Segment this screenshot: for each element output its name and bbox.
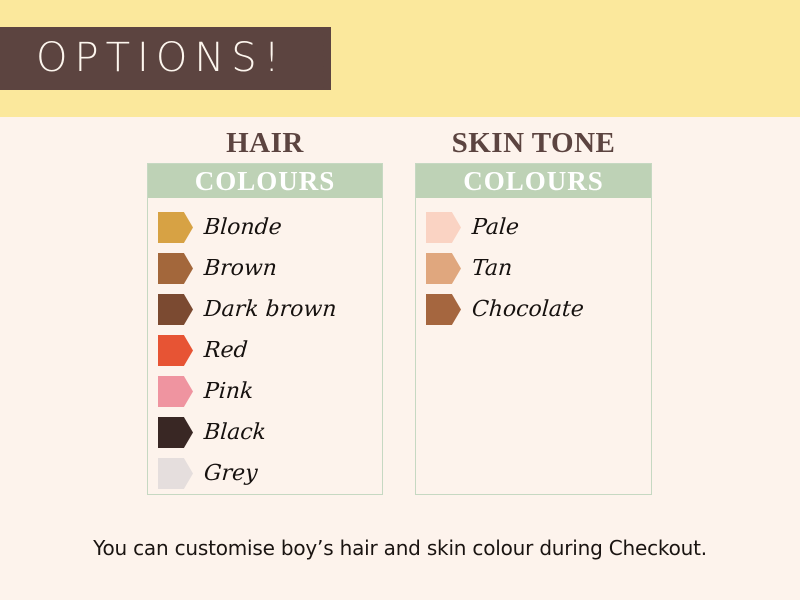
colour-swatch-icon bbox=[426, 253, 461, 284]
list-item[interactable]: Pink bbox=[148, 371, 382, 412]
list-item-label: Brown bbox=[203, 256, 278, 281]
ribbon-teeth-icon bbox=[307, 27, 331, 90]
list-item-label: Blonde bbox=[203, 215, 282, 240]
colour-swatch-icon bbox=[158, 335, 193, 366]
list-item-label: Pink bbox=[203, 379, 254, 404]
hair-swatch-list: Blonde Brown Dark brown Red Pink bbox=[148, 198, 382, 494]
colour-swatch-icon bbox=[158, 253, 193, 284]
options-columns: HAIR COLOURS Blonde Brown Dark brown bbox=[0, 117, 800, 537]
colour-swatch-icon bbox=[426, 294, 461, 325]
list-item-label: Pale bbox=[471, 215, 520, 240]
colour-swatch-icon bbox=[426, 212, 461, 243]
colour-swatch-icon bbox=[158, 212, 193, 243]
list-item-label: Dark brown bbox=[203, 297, 337, 322]
list-item[interactable]: Pale bbox=[416, 207, 651, 248]
banner-title: OPTIONS! bbox=[36, 27, 287, 90]
list-item-label: Black bbox=[203, 420, 267, 445]
list-item[interactable]: Chocolate bbox=[416, 289, 651, 330]
list-item-label: Red bbox=[203, 338, 248, 363]
list-item-label: Grey bbox=[203, 461, 258, 486]
skin-tone-colours-column: SKIN TONE COLOURS Pale Tan Chocolate bbox=[415, 117, 652, 495]
options-ribbon-banner: OPTIONS! bbox=[0, 27, 330, 90]
colour-swatch-icon bbox=[158, 458, 193, 489]
skin-colours-card: COLOURS Pale Tan Chocolate bbox=[415, 163, 652, 495]
hair-colours-card: COLOURS Blonde Brown Dark brown Red bbox=[147, 163, 383, 495]
colour-swatch-icon bbox=[158, 294, 193, 325]
colour-swatch-icon bbox=[158, 376, 193, 407]
skin-swatch-list: Pale Tan Chocolate bbox=[416, 198, 651, 330]
hair-column-title: HAIR bbox=[147, 117, 383, 163]
hair-card-header: COLOURS bbox=[148, 164, 382, 198]
list-item[interactable]: Blonde bbox=[148, 207, 382, 248]
skin-column-title: SKIN TONE bbox=[415, 117, 652, 163]
colour-swatch-icon bbox=[158, 417, 193, 448]
list-item-label: Tan bbox=[471, 256, 513, 281]
list-item[interactable]: Dark brown bbox=[148, 289, 382, 330]
list-item[interactable]: Grey bbox=[148, 453, 382, 494]
list-item[interactable]: Brown bbox=[148, 248, 382, 289]
list-item[interactable]: Black bbox=[148, 412, 382, 453]
list-item[interactable]: Tan bbox=[416, 248, 651, 289]
skin-card-header: COLOURS bbox=[416, 164, 651, 198]
hair-colours-column: HAIR COLOURS Blonde Brown Dark brown bbox=[147, 117, 383, 495]
footer-caption: You can customise boy’s hair and skin co… bbox=[0, 536, 800, 560]
list-item[interactable]: Red bbox=[148, 330, 382, 371]
list-item-label: Chocolate bbox=[471, 297, 585, 322]
